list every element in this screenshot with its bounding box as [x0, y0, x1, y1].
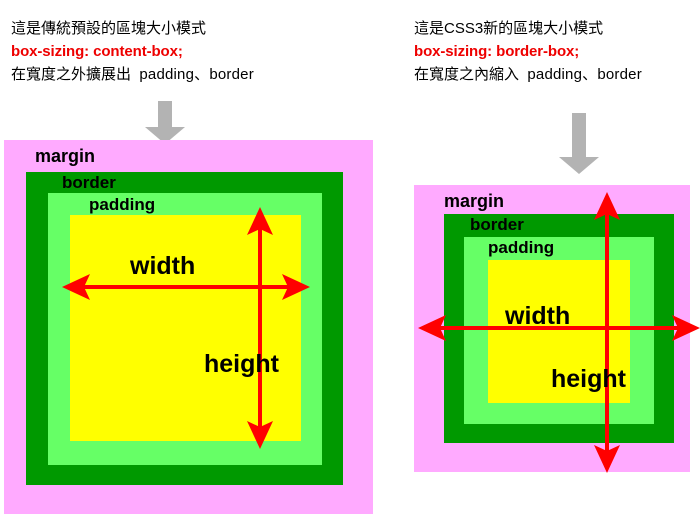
margin-label: margin: [444, 191, 504, 212]
padding-label: padding: [89, 195, 155, 215]
border-label: border: [470, 215, 524, 235]
width-label: width: [505, 302, 570, 331]
caption-explanation-properties: padding、border: [527, 66, 642, 83]
caption-line-css-declaration: box-sizing: content-box;: [11, 40, 254, 63]
caption-line-explanation: 在寬度之內縮入 padding、border: [414, 63, 642, 86]
caption-explanation-prefix: 在寬度之外擴展出: [11, 66, 131, 83]
height-label: height: [204, 350, 279, 379]
border-box-panel: 這是CSS3新的區塊大小模式 box-sizing: border-box; 在…: [400, 0, 700, 514]
caption-explanation-prefix: 在寬度之內縮入: [414, 66, 519, 83]
content-box-panel: 這是傳統預設的區塊大小模式 box-sizing: content-box; 在…: [0, 0, 400, 514]
caption-line-explanation: 在寬度之外擴展出 padding、border: [11, 63, 254, 86]
height-measure-arrow: [245, 207, 275, 449]
caption-line-description: 這是傳統預設的區塊大小模式: [11, 17, 254, 40]
border-label: border: [62, 173, 116, 193]
arrow-down-icon: [143, 101, 187, 145]
caption-line-description: 這是CSS3新的區塊大小模式: [414, 17, 642, 40]
padding-label: padding: [488, 238, 554, 258]
caption-line-css-declaration: box-sizing: border-box;: [414, 40, 642, 63]
arrow-down-icon: [557, 113, 601, 175]
caption-explanation-properties: padding、border: [139, 66, 254, 83]
width-label: width: [130, 252, 195, 281]
height-label: height: [551, 365, 626, 394]
border-box-caption: 這是CSS3新的區塊大小模式 box-sizing: border-box; 在…: [414, 17, 642, 86]
content-box-caption: 這是傳統預設的區塊大小模式 box-sizing: content-box; 在…: [11, 17, 254, 86]
margin-label: margin: [35, 146, 95, 167]
height-measure-arrow: [592, 192, 622, 473]
